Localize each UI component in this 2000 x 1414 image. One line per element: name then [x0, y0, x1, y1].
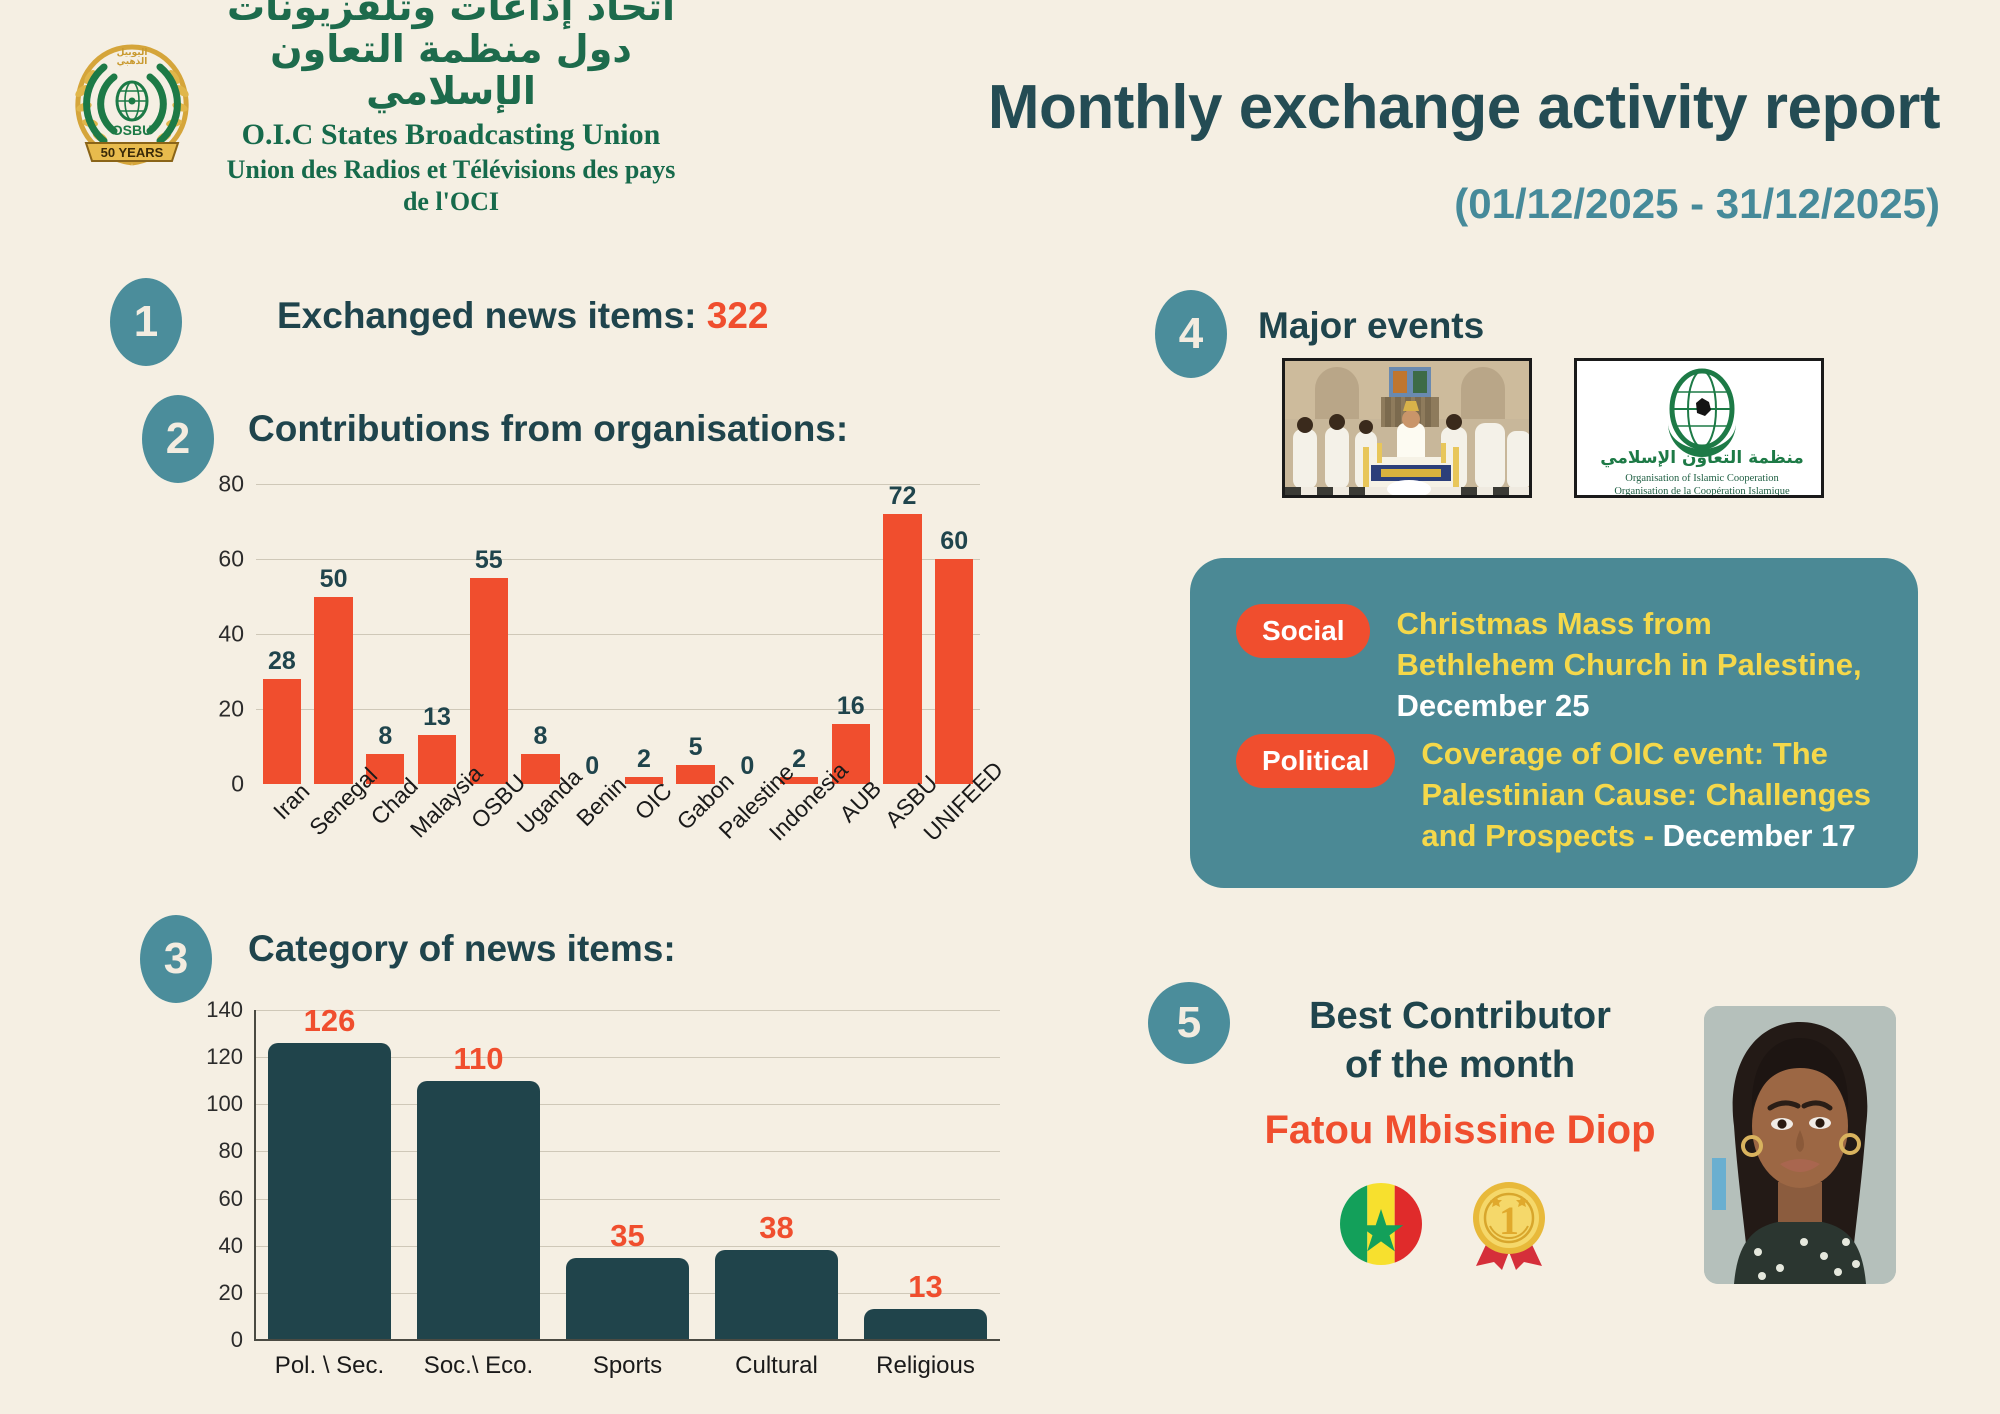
bar-column: 0 — [721, 484, 773, 784]
section-3-heading: Category of news items: — [248, 928, 676, 970]
section-badge-3: 3 — [140, 915, 212, 1003]
bar-column: 13 — [411, 484, 463, 784]
bar — [883, 514, 921, 784]
first-place-medal-icon: 1 — [1466, 1178, 1552, 1275]
bar — [566, 1258, 688, 1341]
bar — [864, 1309, 986, 1340]
report-date-range: (01/12/2025 - 31/12/2025) — [1454, 180, 1940, 228]
bar-column: 2 — [773, 484, 825, 784]
bar — [935, 559, 973, 784]
bar-column: 35 — [553, 1010, 702, 1340]
bar-column: 13 — [851, 1010, 1000, 1340]
bar-value-label: 0 — [740, 752, 754, 781]
x-axis-label-cell: Iran — [256, 784, 308, 794]
bar-column: 28 — [256, 484, 308, 784]
bar-value-label: 50 — [320, 565, 348, 594]
major-events-panel: Social Christmas Mass from Bethlehem Chu… — [1190, 558, 1918, 888]
bar-value-label: 5 — [689, 733, 703, 762]
event-row-political: Political Coverage of OIC event: The Pal… — [1236, 734, 1876, 857]
logo-french-title: Union des Radios et Télévisions des pays… — [216, 154, 686, 219]
event-tag-social: Social — [1236, 604, 1370, 658]
chart1-bars: 285081355802502167260 — [256, 484, 980, 784]
x-axis-tick-label: Cultural — [735, 1352, 818, 1380]
bar-value-label: 8 — [534, 722, 548, 751]
section-badge-5-number: 5 — [1177, 998, 1201, 1048]
bar-value-label: 72 — [889, 482, 917, 511]
exchanged-news-count: 322 — [707, 295, 769, 336]
bar-value-label: 2 — [792, 745, 806, 774]
bar — [263, 679, 301, 784]
y-axis-tick: 40 — [219, 1233, 243, 1259]
x-axis-label-cell: Gabon — [670, 784, 722, 794]
bar-column: 60 — [928, 484, 980, 784]
bar-value-label: 2 — [637, 745, 651, 774]
bar-value-label: 13 — [423, 703, 451, 732]
svg-text:1: 1 — [1499, 1198, 1519, 1243]
event-date-political: December 17 — [1663, 818, 1856, 853]
section-badge-5: 5 — [1148, 982, 1230, 1064]
bar-value-label: 110 — [453, 1041, 503, 1077]
section-badge-4-number: 4 — [1179, 309, 1203, 359]
section-badge-4: 4 — [1155, 290, 1227, 378]
best-contributor-avatar — [1704, 1006, 1896, 1284]
page-header: اليوبيل الذهبي OSBU 50 YEARS اتحاد إذاعا… — [0, 0, 2000, 250]
bar-column: 8 — [515, 484, 567, 784]
x-axis-label-cell: OIC — [618, 784, 670, 794]
x-axis-label-cell: Malaysia — [411, 784, 463, 794]
event-text-political: Coverage of OIC event: The Palestinian C… — [1421, 734, 1876, 857]
best-contributor-name: Fatou Mbissine Diop — [1215, 1108, 1705, 1153]
y-axis-tick: 40 — [218, 621, 244, 648]
x-axis-label-cell: Pol. \ Sec. — [255, 1340, 404, 1350]
y-axis-tick: 60 — [219, 1186, 243, 1212]
event-tag-political: Political — [1236, 734, 1395, 788]
x-axis-tick-label: Religious — [876, 1352, 975, 1380]
best-contributor-title: Best Contributor of the month — [1265, 992, 1655, 1091]
section-1-heading: Exchanged news items: 322 — [277, 295, 768, 337]
chart2-y-axis-line — [254, 1010, 256, 1340]
page-title: Monthly exchange activity report — [988, 72, 1940, 143]
x-axis-label-cell: UNIFEED — [928, 784, 980, 794]
section-1-label: Exchanged news items: — [277, 295, 696, 336]
bar-value-label: 16 — [837, 692, 865, 721]
bar — [470, 578, 508, 784]
section-badge-1: 1 — [110, 278, 182, 366]
major-event-images: منظمة التعاون الإسلامي Organisation of I… — [1282, 358, 1824, 498]
section-4-heading: Major events — [1258, 305, 1484, 347]
logo-text-block: اتحاد إذاعات وتلفزيونات دول منظمة التعاو… — [216, 0, 686, 219]
best-contributor-title-line1: Best Contributor — [1265, 992, 1655, 1041]
svg-text:Organisation de la Coopération: Organisation de la Coopération Islamique — [1614, 486, 1790, 497]
svg-text:50 YEARS: 50 YEARS — [101, 145, 164, 160]
x-axis-label-cell: Sports — [553, 1340, 702, 1350]
osbu-emblem-icon: اليوبيل الذهبي OSBU 50 YEARS — [62, 33, 202, 173]
bar — [268, 1043, 390, 1340]
osbu-logo: اليوبيل الذهبي OSBU 50 YEARS اتحاد إذاعا… — [62, 28, 702, 178]
x-axis-label-cell: OSBU — [463, 784, 515, 794]
bar-column: 72 — [877, 484, 929, 784]
bar-column: 16 — [825, 484, 877, 784]
chart1-x-axis-labels: IranSenegalChadMalaysiaOSBUUgandaBeninOI… — [256, 784, 980, 794]
bar-column: 0 — [566, 484, 618, 784]
bar-value-label: 35 — [610, 1218, 644, 1254]
y-axis-tick: 100 — [206, 1091, 243, 1117]
bar-value-label: 13 — [908, 1269, 942, 1305]
x-axis-label-cell: Senegal — [308, 784, 360, 794]
bar — [417, 1081, 539, 1340]
svg-text:Organisation of Islamic Cooper: Organisation of Islamic Cooperation — [1625, 473, 1779, 484]
x-axis-tick-label: Soc.\ Eco. — [424, 1352, 533, 1380]
y-axis-tick: 80 — [218, 471, 244, 498]
x-axis-label-cell: Chad — [359, 784, 411, 794]
oic-logo-card: منظمة التعاون الإسلامي Organisation of I… — [1574, 358, 1824, 498]
x-axis-label-cell: Palestine — [721, 784, 773, 794]
chart2-x-axis-labels: Pol. \ Sec.Soc.\ Eco.SportsCulturalRelig… — [255, 1340, 1000, 1350]
section-badge-3-number: 3 — [164, 934, 188, 984]
logo-arabic-title: اتحاد إذاعات وتلفزيونات دول منظمة التعاو… — [216, 0, 686, 112]
bar-value-label: 28 — [268, 647, 296, 676]
senegal-flag-icon — [1340, 1183, 1422, 1270]
x-axis-label-cell: Cultural — [702, 1340, 851, 1350]
event-title-social: Christmas Mass from Bethlehem Church in … — [1396, 606, 1861, 682]
x-axis-label-cell: Religious — [851, 1340, 1000, 1350]
x-axis-label-cell: Indonesia — [773, 784, 825, 794]
bar-value-label: 38 — [759, 1210, 793, 1246]
event-row-social: Social Christmas Mass from Bethlehem Chu… — [1236, 604, 1876, 727]
x-axis-label-cell: Soc.\ Eco. — [404, 1340, 553, 1350]
y-axis-tick: 0 — [231, 1327, 243, 1353]
chart2-bars: 126110353813 — [255, 1010, 1000, 1340]
best-contributor-emblems: 1 — [1340, 1178, 1552, 1275]
bar-column: 5 — [670, 484, 722, 784]
bar-column: 50 — [308, 484, 360, 784]
bar — [715, 1250, 837, 1340]
christmas-mass-bethlehem-photo — [1282, 358, 1532, 498]
bar — [314, 597, 352, 785]
svg-text:الذهبي: الذهبي — [117, 57, 148, 67]
bar-value-label: 126 — [304, 1003, 356, 1039]
y-axis-tick: 60 — [218, 546, 244, 573]
bar-column: 38 — [702, 1010, 851, 1340]
best-contributor-title-line2: of the month — [1265, 1041, 1655, 1090]
y-axis-tick: 140 — [206, 997, 243, 1023]
x-axis-tick-label: Pol. \ Sec. — [275, 1352, 384, 1380]
bar-column: 8 — [359, 484, 411, 784]
bar-column: 2 — [618, 484, 670, 784]
bar-value-label: 55 — [475, 546, 503, 575]
svg-text:OSBU: OSBU — [112, 122, 152, 138]
bar-value-label: 8 — [378, 722, 392, 751]
y-axis-tick: 120 — [206, 1044, 243, 1070]
y-axis-tick: 20 — [219, 1280, 243, 1306]
section-badge-1-number: 1 — [134, 297, 158, 347]
contributions-chart: 020406080 285081355802502167260 IranSene… — [256, 484, 980, 784]
x-axis-label-cell: AUB — [825, 784, 877, 794]
bar-value-label: 0 — [585, 752, 599, 781]
event-date-social: December 25 — [1396, 688, 1589, 723]
svg-text:منظمة التعاون الإسلامي: منظمة التعاون الإسلامي — [1600, 448, 1804, 468]
event-text-social: Christmas Mass from Bethlehem Church in … — [1396, 604, 1876, 727]
section-badge-2: 2 — [142, 395, 214, 483]
bar-column: 110 — [404, 1010, 553, 1340]
x-axis-label-cell: ASBU — [877, 784, 929, 794]
category-chart: 020406080100120140 126110353813 Pol. \ S… — [255, 1010, 1000, 1340]
bar-column: 55 — [463, 484, 515, 784]
section-2-heading: Contributions from organisations: — [248, 408, 848, 450]
bar-value-label: 60 — [940, 527, 968, 556]
y-axis-tick: 80 — [219, 1138, 243, 1164]
y-axis-tick: 20 — [218, 696, 244, 723]
x-axis-label-cell: Uganda — [515, 784, 567, 794]
x-axis-tick-label: Sports — [593, 1352, 662, 1380]
section-badge-2-number: 2 — [166, 414, 190, 464]
logo-english-title: O.I.C States Broadcasting Union — [216, 116, 686, 154]
chart2-x-axis-line — [254, 1339, 1000, 1341]
bar-column: 126 — [255, 1010, 404, 1340]
y-axis-tick: 0 — [231, 771, 244, 798]
x-axis-label-cell: Benin — [566, 784, 618, 794]
